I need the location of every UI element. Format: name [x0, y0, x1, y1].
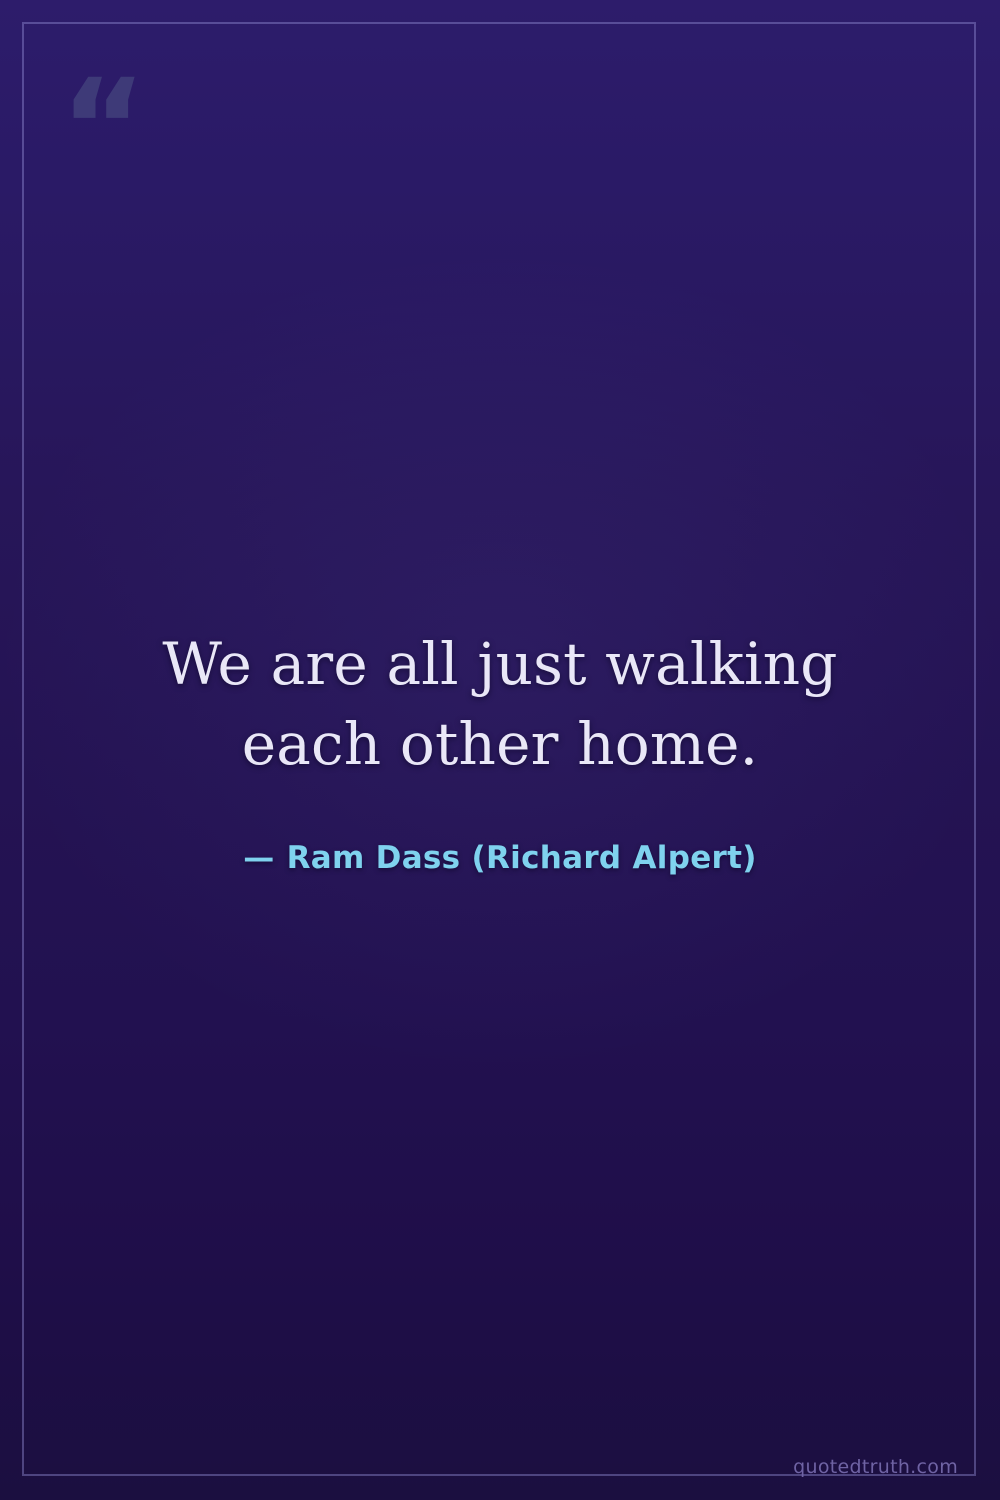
- quote-attribution: —Ram Dass (Richard Alpert): [243, 840, 756, 876]
- quote-card: “ We are all just walking each other hom…: [0, 0, 1000, 1500]
- attribution-author: Ram Dass (Richard Alpert): [287, 840, 757, 876]
- quote-content: We are all just walking each other home.…: [0, 0, 1000, 1500]
- quote-text: We are all just walking each other home.: [90, 624, 910, 784]
- attribution-dash: —: [243, 840, 274, 876]
- site-watermark: quotedtruth.com: [793, 1456, 958, 1478]
